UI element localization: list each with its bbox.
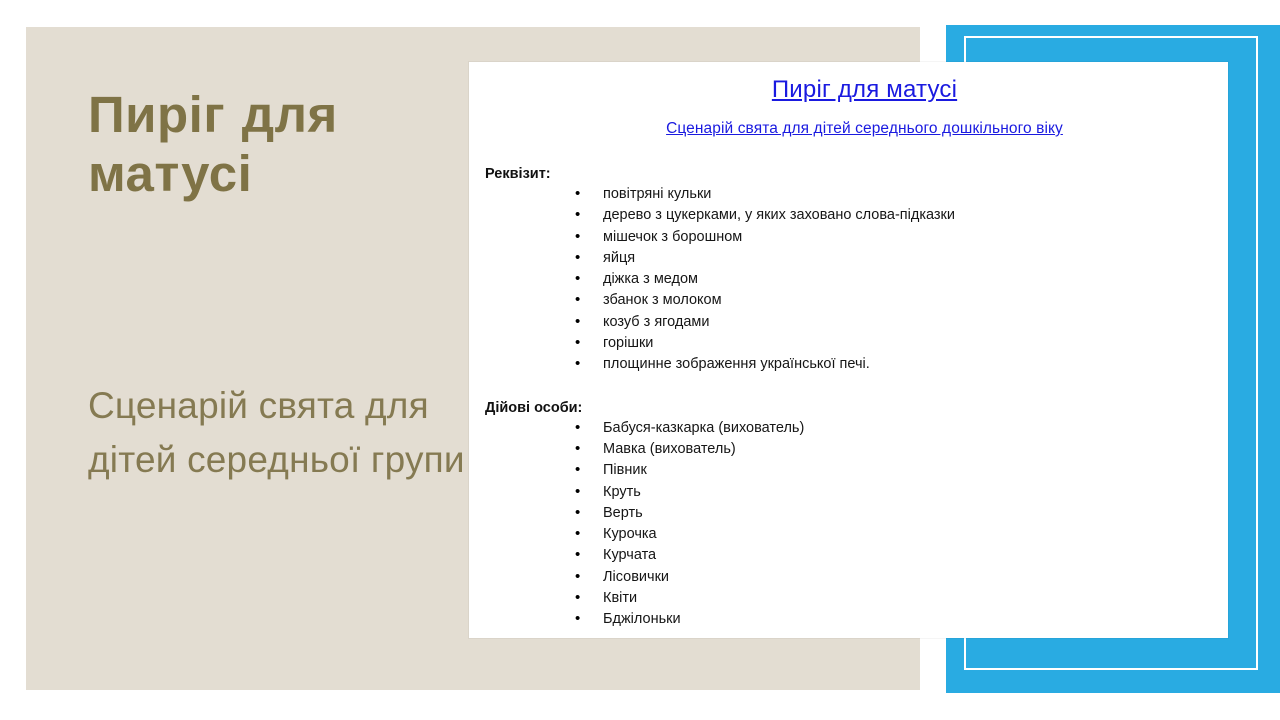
list-item: Курочка: [469, 524, 1228, 545]
list-item: козуб з ягодами: [469, 312, 1228, 333]
section-requisites: Реквізит: повітряні кулькидерево з цукер…: [469, 138, 1228, 376]
list-item: Бабуся-казкарка (вихователь): [469, 418, 1228, 439]
presentation-slide: Пиріг для матусі Сценарій свята для діте…: [0, 0, 1280, 720]
section-heading-requisites: Реквізит:: [469, 166, 1228, 182]
list-item: Верть: [469, 503, 1228, 524]
list-item: дерево з цукерками, у яких заховано слов…: [469, 205, 1228, 226]
characters-list: Бабуся-казкарка (вихователь)Мавка (вихов…: [469, 418, 1228, 631]
list-item: Круть: [469, 482, 1228, 503]
list-item: Мавка (вихователь): [469, 439, 1228, 460]
requisites-list: повітряні кулькидерево з цукерками, у як…: [469, 184, 1228, 376]
list-item: Курчата: [469, 545, 1228, 566]
list-item: діжка з медом: [469, 269, 1228, 290]
document-title: Пиріг для матусі: [469, 62, 1228, 104]
list-item: яйця: [469, 248, 1228, 269]
title-block: Пиріг для матусі: [88, 85, 468, 203]
list-item: площинне зображення української печі.: [469, 354, 1228, 375]
list-item: Квіти: [469, 588, 1228, 609]
document-content: Пиріг для матусі Сценарій свята для діте…: [469, 62, 1228, 638]
document-subtitle: Сценарій свята для дітей середнього дошк…: [469, 104, 1228, 138]
list-item: Бджілоньки: [469, 609, 1228, 630]
section-heading-characters: Дійові особи:: [469, 400, 1228, 416]
list-item: Півник: [469, 460, 1228, 481]
list-item: Лісовички: [469, 567, 1228, 588]
section-characters: Дійові особи: Бабуся-казкарка (виховател…: [469, 376, 1228, 631]
list-item: збанок з молоком: [469, 290, 1228, 311]
subtitle-block: Сценарій свята для дітей середньої групи: [88, 379, 488, 486]
slide-title: Пиріг для матусі: [88, 85, 468, 203]
list-item: мішечок з борошном: [469, 227, 1228, 248]
document-preview-card[interactable]: Пиріг для матусі Сценарій свята для діте…: [469, 62, 1228, 638]
list-item: повітряні кульки: [469, 184, 1228, 205]
slide-subtitle: Сценарій свята для дітей середньої групи: [88, 379, 488, 486]
list-item: горішки: [469, 333, 1228, 354]
